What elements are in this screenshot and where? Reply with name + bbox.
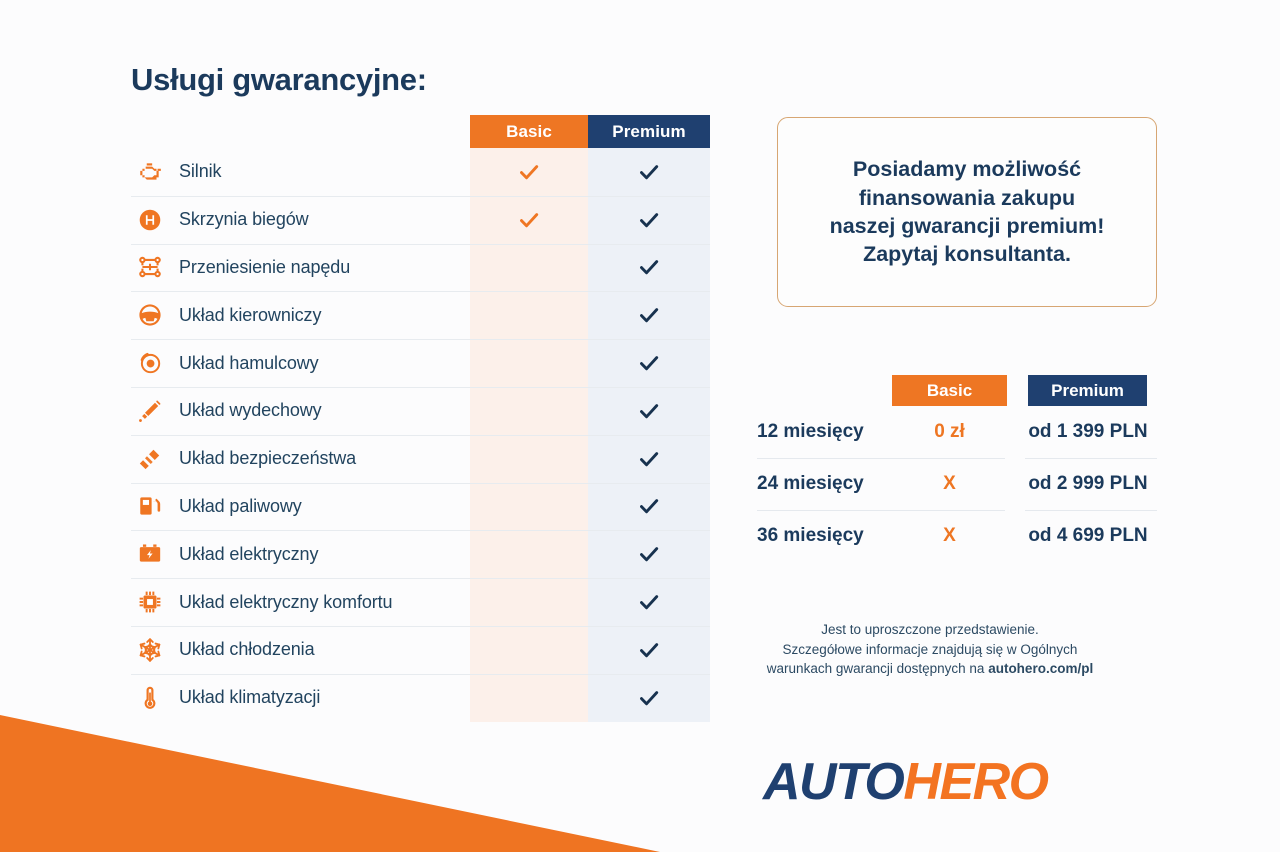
pricing-table: Basic Premium 12 miesięcy0 złod 1 399 PL… bbox=[757, 375, 1157, 562]
warranty-premium-cell bbox=[588, 148, 710, 196]
warranty-basic-cell bbox=[470, 530, 588, 578]
warranty-label-cell: Układ paliwowy bbox=[131, 491, 470, 521]
thermometer-icon bbox=[135, 683, 165, 713]
warranty-label-cell: Silnik bbox=[131, 157, 470, 187]
gearbox-icon bbox=[135, 205, 165, 235]
battery-icon bbox=[135, 539, 165, 569]
snowflake-icon bbox=[135, 635, 165, 665]
orange-corner-wedge bbox=[0, 700, 700, 852]
warranty-basic-cell bbox=[470, 339, 588, 387]
check-icon bbox=[637, 686, 661, 710]
warranty-premium-cell bbox=[588, 435, 710, 483]
check-icon bbox=[637, 447, 661, 471]
check-icon bbox=[517, 208, 541, 232]
warranty-row: Skrzynia biegów bbox=[131, 196, 710, 244]
warranty-label-cell: Układ hamulcowy bbox=[131, 348, 470, 378]
price-header-basic: Basic bbox=[892, 375, 1007, 406]
pricing-premium-value: od 4 699 PLN bbox=[1019, 510, 1157, 562]
pricing-premium-value: od 1 399 PLN bbox=[1019, 406, 1157, 458]
warranty-row: Układ paliwowy bbox=[131, 483, 710, 531]
warranty-row: Silnik bbox=[131, 148, 710, 196]
warranty-label-cell: Układ chłodzenia bbox=[131, 635, 470, 665]
footnote-line-3: warunkach gwarancji dostępnych na autohe… bbox=[700, 659, 1160, 679]
warranty-item-label: Układ wydechowy bbox=[179, 400, 322, 421]
warranty-item-label: Przeniesienie napędu bbox=[179, 257, 350, 278]
warranty-premium-cell bbox=[588, 244, 710, 292]
warranty-row: Układ kierowniczy bbox=[131, 291, 710, 339]
warranty-basic-cell bbox=[470, 148, 588, 196]
check-icon bbox=[637, 208, 661, 232]
engine-icon bbox=[135, 157, 165, 187]
warranty-basic-cell bbox=[470, 435, 588, 483]
warranty-premium-cell bbox=[588, 196, 710, 244]
warranty-basic-cell bbox=[470, 244, 588, 292]
logo-auto-text: AUTO bbox=[763, 753, 903, 811]
warranty-item-label: Układ bezpieczeństwa bbox=[179, 448, 356, 469]
pricing-basic-value: X bbox=[892, 510, 1007, 562]
warranty-item-label: Układ elektryczny komfortu bbox=[179, 592, 392, 613]
warranty-row-list: SilnikSkrzynia biegówPrzeniesienie napęd… bbox=[131, 148, 710, 722]
check-icon bbox=[637, 399, 661, 423]
fuel-pump-icon bbox=[135, 491, 165, 521]
column-header-premium: Premium bbox=[588, 115, 710, 148]
warranty-row: Układ klimatyzacji bbox=[131, 674, 710, 722]
warranty-row: Układ bezpieczeństwa bbox=[131, 435, 710, 483]
pricing-row: 12 miesięcy0 złod 1 399 PLN bbox=[757, 406, 1157, 458]
warranty-premium-cell bbox=[588, 483, 710, 531]
warranty-label-cell: Układ elektryczny bbox=[131, 539, 470, 569]
pricing-basic-value: X bbox=[892, 458, 1007, 510]
warranty-item-label: Układ kierowniczy bbox=[179, 305, 321, 326]
warranty-item-label: Układ hamulcowy bbox=[179, 353, 319, 374]
warranty-basic-cell bbox=[470, 578, 588, 626]
warranty-row: Układ elektryczny bbox=[131, 530, 710, 578]
warranty-table-header: Basic Premium bbox=[131, 115, 710, 148]
warranty-row: Przeniesienie napędu bbox=[131, 244, 710, 292]
seatbelt-icon bbox=[135, 444, 165, 474]
warranty-item-label: Układ klimatyzacji bbox=[179, 687, 320, 708]
warranty-label-cell: Układ kierowniczy bbox=[131, 300, 470, 330]
check-icon bbox=[637, 351, 661, 375]
warranty-label-cell: Układ wydechowy bbox=[131, 396, 470, 426]
warranty-item-label: Układ chłodzenia bbox=[179, 639, 314, 660]
warranty-premium-cell bbox=[588, 387, 710, 435]
check-icon bbox=[637, 590, 661, 614]
autohero-website-link[interactable]: autohero.com/pl bbox=[988, 661, 1093, 676]
check-icon bbox=[517, 160, 541, 184]
pricing-premium-value: od 2 999 PLN bbox=[1019, 458, 1157, 510]
pricing-term-label: 36 miesięcy bbox=[757, 510, 892, 562]
warranty-label-cell: Przeniesienie napędu bbox=[131, 252, 470, 282]
check-icon bbox=[637, 542, 661, 566]
warranty-basic-cell bbox=[470, 674, 588, 722]
warranty-label-cell: Układ bezpieczeństwa bbox=[131, 444, 470, 474]
warranty-item-label: Silnik bbox=[179, 161, 221, 182]
header-spacer bbox=[131, 115, 470, 148]
warranty-basic-cell bbox=[470, 626, 588, 674]
warranty-basic-cell bbox=[470, 387, 588, 435]
column-header-basic: Basic bbox=[470, 115, 588, 148]
footnote-line-1: Jest to uproszczone przedstawienie. bbox=[700, 620, 1160, 640]
warranty-row: Układ hamulcowy bbox=[131, 339, 710, 387]
pricing-basic-value: 0 zł bbox=[892, 406, 1007, 458]
financing-promo-box: Posiadamy możliwość finansowania zakupu … bbox=[777, 117, 1157, 307]
drivetrain-icon bbox=[135, 252, 165, 282]
footnote-line-3-prefix: warunkach gwarancji dostępnych na bbox=[767, 661, 988, 676]
footnote-disclaimer: Jest to uproszczone przedstawienie. Szcz… bbox=[700, 620, 1160, 679]
brake-disc-icon bbox=[135, 348, 165, 378]
check-icon bbox=[637, 494, 661, 518]
pricing-table-header: Basic Premium bbox=[757, 375, 1157, 406]
financing-promo-text: Posiadamy możliwość finansowania zakupu … bbox=[814, 155, 1121, 269]
warranty-premium-cell bbox=[588, 530, 710, 578]
warranty-row: Układ wydechowy bbox=[131, 387, 710, 435]
warranty-item-label: Układ paliwowy bbox=[179, 496, 302, 517]
warranty-basic-cell bbox=[470, 483, 588, 531]
steering-wheel-icon bbox=[135, 300, 165, 330]
autohero-logo: AUTOHERO bbox=[763, 752, 1048, 812]
chip-icon bbox=[135, 587, 165, 617]
warranty-label-cell: Układ klimatyzacji bbox=[131, 683, 470, 713]
pricing-row: 36 miesięcyXod 4 699 PLN bbox=[757, 510, 1157, 562]
warranty-premium-cell bbox=[588, 626, 710, 674]
page-title: Usługi gwarancyjne: bbox=[131, 62, 427, 98]
price-header-premium: Premium bbox=[1028, 375, 1147, 406]
warranty-premium-cell bbox=[588, 291, 710, 339]
warranty-item-label: Układ elektryczny bbox=[179, 544, 318, 565]
poster-canvas: Usługi gwarancyjne: Basic Premium Silnik… bbox=[0, 0, 1280, 852]
check-icon bbox=[637, 303, 661, 327]
footnote-line-2: Szczegółowe informacje znajdują się w Og… bbox=[700, 640, 1160, 660]
warranty-label-cell: Skrzynia biegów bbox=[131, 205, 470, 235]
warranty-services-table: Basic Premium SilnikSkrzynia biegówPrzen… bbox=[131, 115, 710, 722]
warranty-item-label: Skrzynia biegów bbox=[179, 209, 309, 230]
warranty-premium-cell bbox=[588, 339, 710, 387]
check-icon bbox=[637, 160, 661, 184]
check-icon bbox=[637, 255, 661, 279]
warranty-basic-cell bbox=[470, 196, 588, 244]
warranty-row: Układ elektryczny komfortu bbox=[131, 578, 710, 626]
logo-hero-text: HERO bbox=[903, 753, 1047, 811]
warranty-row: Układ chłodzenia bbox=[131, 626, 710, 674]
warranty-label-cell: Układ elektryczny komfortu bbox=[131, 587, 470, 617]
check-icon bbox=[637, 638, 661, 662]
pricing-term-label: 12 miesięcy bbox=[757, 406, 892, 458]
exhaust-icon bbox=[135, 396, 165, 426]
warranty-basic-cell bbox=[470, 291, 588, 339]
pricing-term-label: 24 miesięcy bbox=[757, 458, 892, 510]
pricing-row: 24 miesięcyXod 2 999 PLN bbox=[757, 458, 1157, 510]
warranty-premium-cell bbox=[588, 578, 710, 626]
pricing-row-list: 12 miesięcy0 złod 1 399 PLN24 miesięcyXo… bbox=[757, 406, 1157, 562]
warranty-premium-cell bbox=[588, 674, 710, 722]
